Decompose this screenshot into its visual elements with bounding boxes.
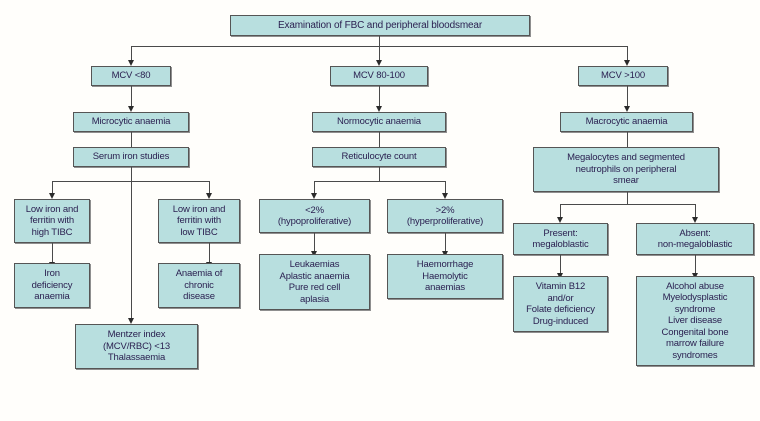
edge-serumiron-to-mentzer xyxy=(131,167,132,319)
edge-mcvmid-to-normocytic xyxy=(379,86,380,107)
node-macrocytic-anaemia: Macrocytic anaemia xyxy=(560,112,693,132)
edge-present-to-causes xyxy=(560,255,561,274)
node-low-iron-low-tibc: Low iron and ferritin with low TIBC xyxy=(158,199,240,243)
node-microcytic-anaemia: Microcytic anaemia xyxy=(73,112,189,132)
node-present-megaloblastic: Present: megaloblastic xyxy=(513,223,608,255)
edge-mcvlow-to-microcytic xyxy=(131,86,132,107)
node-megaloblastic-causes: Vitamin B12 and/or Folate deficiency Dru… xyxy=(513,276,608,332)
edge-reticlow-to-causes xyxy=(314,233,315,252)
node-megalocytes-neutrophils: Megalocytes and segmented neutrophils on… xyxy=(533,147,719,192)
node-hyperproliferative-causes: Haemorrhage Haemolytic anaemias xyxy=(387,254,503,299)
edge-root-to-mid xyxy=(379,46,380,61)
node-absent-non-megaloblastic: Absent: non-megaloblastic xyxy=(636,223,754,255)
node-low-iron-high-tibc: Low iron and ferritin with high TIBC xyxy=(14,199,90,243)
edge-retichigh-to-causes xyxy=(445,233,446,252)
edge-megalocytes-bus xyxy=(560,204,695,205)
node-serum-iron-studies: Serum iron studies xyxy=(73,147,189,167)
flowchart-canvas: Examination of FBC and peripheral bloods… xyxy=(0,0,760,421)
node-retic-low: <2% (hypoproliferative) xyxy=(259,199,370,233)
edge-megalocytes-to-present xyxy=(560,204,561,218)
node-retic-high: >2% (hyperproliferative) xyxy=(387,199,503,233)
node-normocytic-anaemia: Normocytic anaemia xyxy=(312,112,446,132)
node-mentzer-index: Mentzer index (MCV/RBC) <13 Thalassaemia xyxy=(75,324,198,369)
edge-hightibc-to-irondef xyxy=(52,243,53,263)
edge-root-to-left xyxy=(131,46,132,61)
edge-root-to-right xyxy=(627,46,628,61)
node-mcv-high: MCV >100 xyxy=(578,66,668,86)
edge-retic-bus xyxy=(314,181,445,182)
edge-megalocytes-stem xyxy=(627,192,628,204)
node-mcv-low: MCV <80 xyxy=(91,66,171,86)
edge-lowtibc-to-chronic xyxy=(209,243,210,263)
edge-mcvhigh-to-macrocytic xyxy=(627,86,628,107)
node-iron-deficiency-anaemia: Iron deficiency anaemia xyxy=(14,263,90,308)
node-anaemia-chronic-disease: Anaemia of chronic disease xyxy=(158,263,240,308)
node-mcv-mid: MCV 80-100 xyxy=(330,66,428,86)
node-hypoproliferative-causes: Leukaemias Aplastic anaemia Pure red cel… xyxy=(259,254,370,310)
node-non-megaloblastic-causes: Alcohol abuse Myelodysplastic syndrome L… xyxy=(636,276,754,366)
node-reticulocyte-count: Reticulocyte count xyxy=(312,147,446,167)
edge-absent-to-causes xyxy=(695,255,696,274)
edge-retic-stem xyxy=(379,167,380,181)
edge-megalocytes-to-absent xyxy=(695,204,696,218)
edge-macrocytic-to-megalocytes xyxy=(627,132,628,148)
node-root: Examination of FBC and peripheral bloods… xyxy=(230,15,530,36)
